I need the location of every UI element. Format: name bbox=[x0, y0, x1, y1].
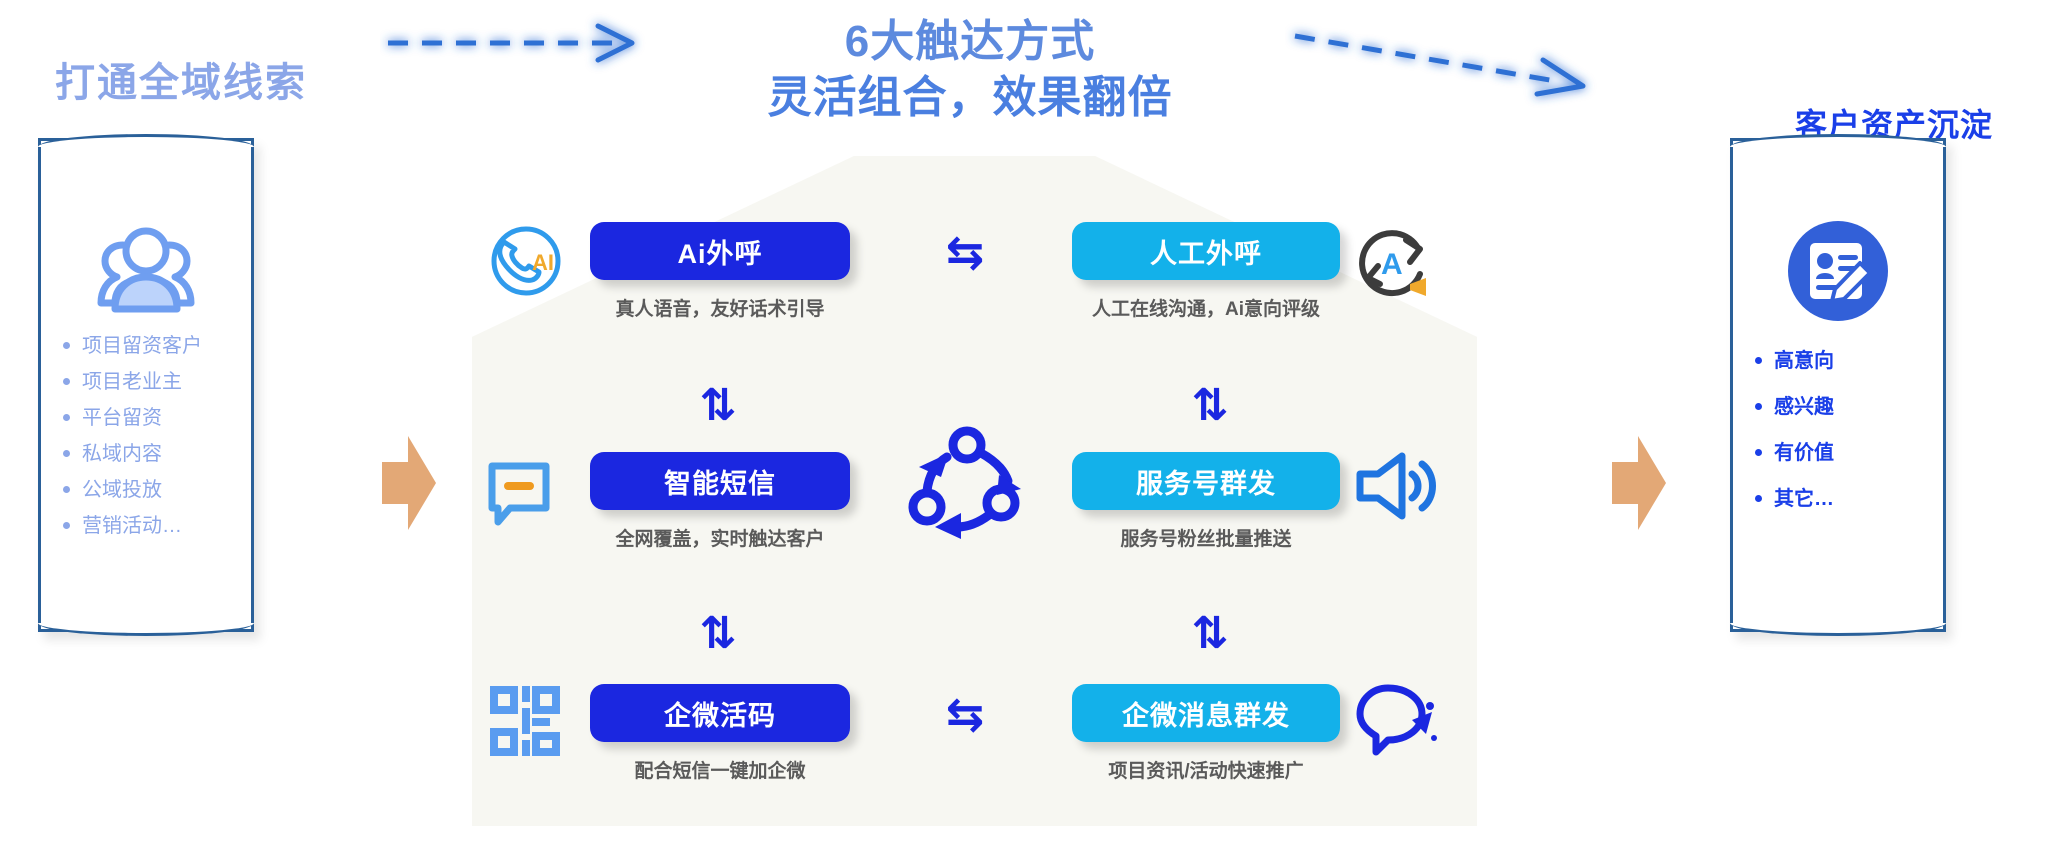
vertical-arrow-icon-left-1: ⇅ bbox=[688, 380, 748, 430]
left-source-panel: 项目留资客户 项目老业主 平台留资 私域内容 公域投放 营销活动… bbox=[38, 138, 254, 632]
list-item[interactable]: 项目留资客户 bbox=[63, 331, 241, 361]
right-result-panel: 高意向 感兴趣 有价值 其它… bbox=[1730, 138, 1946, 632]
method-pill-label[interactable]: 服务号群发 bbox=[1072, 452, 1340, 510]
ai-agent-rotate-icon: A bbox=[1352, 222, 1436, 311]
qr-code-icon bbox=[488, 684, 562, 763]
svg-text:A: A bbox=[1381, 248, 1403, 281]
bullet-dot bbox=[63, 486, 70, 493]
flow-arrow-icon-left bbox=[378, 428, 440, 538]
method-card-wecom-live-code[interactable]: 企微活码 配合短信一键加企微 bbox=[590, 684, 850, 786]
method-caption: 服务号粉丝批量推送 bbox=[1072, 526, 1340, 554]
list-item-label: 营销活动… bbox=[82, 511, 182, 541]
right-panel-list: 高意向 感兴趣 有价值 其它… bbox=[1755, 346, 1933, 530]
chat-send-icon bbox=[1352, 680, 1438, 765]
method-pill-label[interactable]: Ai外呼 bbox=[590, 222, 850, 280]
dashed-arrow-icon-left bbox=[380, 10, 650, 80]
list-item[interactable]: 其它… bbox=[1755, 484, 1933, 514]
page-title-line-1: 6大触达方式 bbox=[620, 14, 1320, 70]
list-item[interactable]: 感兴趣 bbox=[1755, 392, 1933, 422]
vertical-arrow-icon-right-1: ⇅ bbox=[1180, 380, 1240, 430]
svg-text:AI: AI bbox=[532, 250, 554, 275]
list-item-label: 私域内容 bbox=[82, 439, 162, 469]
list-item[interactable]: 平台留资 bbox=[63, 403, 241, 433]
list-item-label: 感兴趣 bbox=[1774, 392, 1834, 422]
bullet-dot bbox=[63, 378, 70, 385]
list-item-label: 公域投放 bbox=[82, 475, 162, 505]
method-caption: 全网覆盖，实时触达客户 bbox=[590, 526, 850, 554]
method-pill-label[interactable]: 企微消息群发 bbox=[1072, 684, 1340, 742]
slide-canvas: 打通全域线索 6大触达方式 灵活组合，效果翻倍 客户资产沉淀 bbox=[0, 0, 2054, 860]
bullet-dot bbox=[1755, 495, 1762, 502]
list-item[interactable]: 营销活动… bbox=[63, 511, 241, 541]
bullet-dot bbox=[63, 522, 70, 529]
bullet-dot bbox=[1755, 357, 1762, 364]
list-item-label: 高意向 bbox=[1774, 346, 1834, 376]
method-caption: 人工在线沟通，Ai意向评级 bbox=[1072, 296, 1340, 324]
bidirectional-arrow-icon-row3: ⇆ bbox=[925, 690, 1005, 738]
bullet-dot bbox=[1755, 403, 1762, 410]
list-item[interactable]: 高意向 bbox=[1755, 346, 1933, 376]
vertical-arrow-icon-right-2: ⇅ bbox=[1180, 608, 1240, 658]
method-caption: 项目资讯/活动快速推广 bbox=[1072, 758, 1340, 786]
users-group-icon bbox=[41, 219, 251, 315]
customer-profile-icon bbox=[1733, 219, 1943, 323]
cycle-network-icon bbox=[905, 425, 1035, 550]
page-title: 6大触达方式 灵活组合，效果翻倍 bbox=[620, 14, 1320, 127]
list-item[interactable]: 公域投放 bbox=[63, 475, 241, 505]
vertical-arrow-icon-left-2: ⇅ bbox=[688, 608, 748, 658]
list-item-label: 平台留资 bbox=[82, 403, 162, 433]
method-pill-label[interactable]: 智能短信 bbox=[590, 452, 850, 510]
sms-bubble-icon bbox=[484, 452, 560, 533]
method-caption: 真人语音，友好话术引导 bbox=[590, 296, 850, 324]
method-card-wecom-message-broadcast[interactable]: 企微消息群发 项目资讯/活动快速推广 bbox=[1072, 684, 1340, 786]
bullet-dot bbox=[1755, 449, 1762, 456]
list-item-label: 其它… bbox=[1774, 484, 1834, 514]
method-caption: 配合短信一键加企微 bbox=[590, 758, 850, 786]
megaphone-speaker-icon bbox=[1352, 448, 1442, 531]
dashed-arrow-icon-right bbox=[1285, 20, 1615, 110]
list-item-label: 有价值 bbox=[1774, 438, 1834, 468]
list-item-label: 项目留资客户 bbox=[82, 331, 202, 361]
ai-phone-icon: AI bbox=[484, 222, 562, 305]
bullet-dot bbox=[63, 450, 70, 457]
method-card-service-account-broadcast[interactable]: 服务号群发 服务号粉丝批量推送 bbox=[1072, 452, 1340, 554]
page-title-line-2: 灵活组合，效果翻倍 bbox=[620, 70, 1320, 126]
bullet-dot bbox=[63, 414, 70, 421]
left-section-title: 打通全域线索 bbox=[55, 50, 307, 108]
left-panel-list: 项目留资客户 项目老业主 平台留资 私域内容 公域投放 营销活动… bbox=[63, 331, 241, 547]
list-item-label: 项目老业主 bbox=[82, 367, 182, 397]
list-item[interactable]: 私域内容 bbox=[63, 439, 241, 469]
bullet-dot bbox=[63, 342, 70, 349]
method-pill-label[interactable]: 企微活码 bbox=[590, 684, 850, 742]
list-item[interactable]: 项目老业主 bbox=[63, 367, 241, 397]
flow-arrow-icon-right bbox=[1608, 428, 1670, 538]
list-item[interactable]: 有价值 bbox=[1755, 438, 1933, 468]
method-card-smart-sms[interactable]: 智能短信 全网覆盖，实时触达客户 bbox=[590, 452, 850, 554]
method-card-ai-outbound-call[interactable]: Ai外呼 真人语音，友好话术引导 bbox=[590, 222, 850, 324]
bidirectional-arrow-icon-row1: ⇆ bbox=[925, 228, 1005, 276]
method-card-manual-outbound-call[interactable]: 人工外呼 人工在线沟通，Ai意向评级 bbox=[1072, 222, 1340, 324]
method-pill-label[interactable]: 人工外呼 bbox=[1072, 222, 1340, 280]
